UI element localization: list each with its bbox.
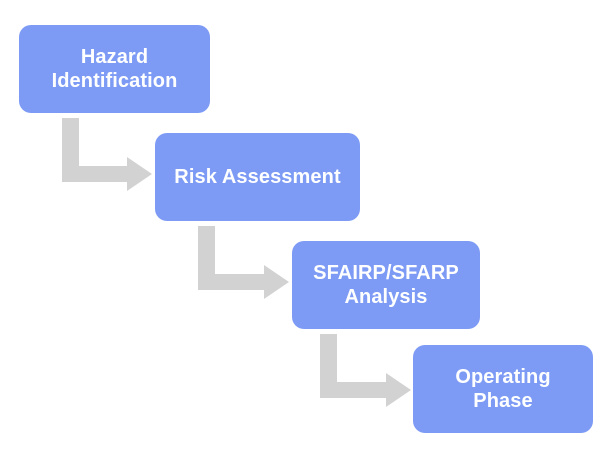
- node-label-sfairp-sfarp-analysis: SFAIRP/SFARP Analysis: [302, 261, 470, 310]
- node-operating-phase[interactable]: Operating Phase: [413, 345, 593, 433]
- node-hazard-identification[interactable]: Hazard Identification: [19, 25, 210, 113]
- node-label-risk-assessment: Risk Assessment: [165, 165, 350, 189]
- flowchart-diagram: Hazard Identification Risk Assessment SF…: [0, 0, 611, 452]
- arrow-sfairp-to-operating: [320, 334, 411, 407]
- node-sfairp-sfarp-analysis[interactable]: SFAIRP/SFARP Analysis: [292, 241, 480, 329]
- arrow-hazard-to-risk: [62, 118, 152, 191]
- node-risk-assessment[interactable]: Risk Assessment: [155, 133, 360, 221]
- node-label-operating-phase: Operating Phase: [423, 365, 583, 414]
- arrow-risk-to-sfairp: [198, 226, 289, 299]
- node-label-hazard-identification: Hazard Identification: [29, 45, 200, 94]
